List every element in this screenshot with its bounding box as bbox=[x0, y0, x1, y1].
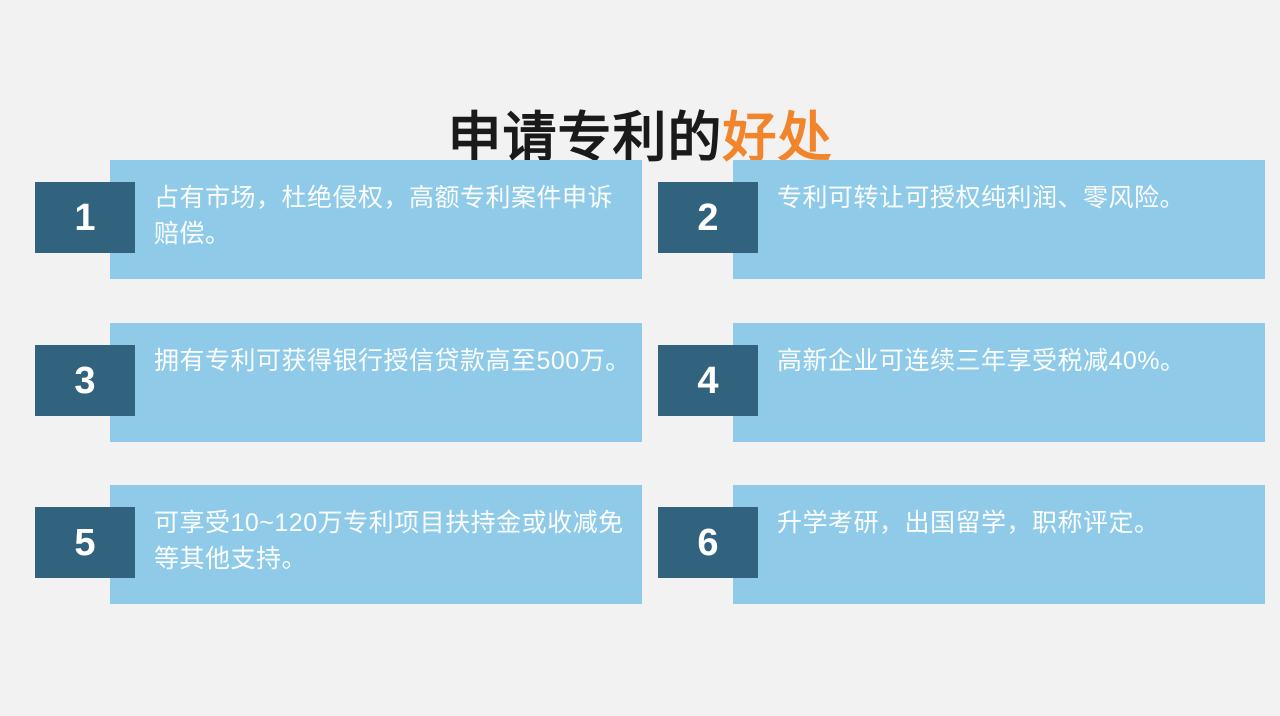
benefit-card-grid: 占有市场，杜绝侵权，高额专利案件申诉赔偿。 1 专利可转让可授权纯利润、零风险。… bbox=[0, 0, 1280, 716]
benefit-card-6[interactable]: 升学考研，出国留学，职称评定。 6 bbox=[658, 483, 1280, 643]
benefit-card-2-badge: 2 bbox=[658, 182, 758, 253]
benefit-card-1[interactable]: 占有市场，杜绝侵权，高额专利案件申诉赔偿。 1 bbox=[35, 158, 658, 318]
benefit-card-2-number: 2 bbox=[697, 199, 718, 237]
benefit-card-4-badge: 4 bbox=[658, 345, 758, 416]
benefit-card-4[interactable]: 高新企业可连续三年享受税减40%。 4 bbox=[658, 321, 1280, 481]
benefit-card-3-number: 3 bbox=[74, 362, 95, 400]
benefit-card-3-panel: 拥有专利可获得银行授信贷款高至500万。 bbox=[110, 323, 642, 442]
benefit-card-1-number: 1 bbox=[74, 199, 95, 237]
benefit-card-5-panel: 可享受10~120万专利项目扶持金或收减免等其他支持。 bbox=[110, 485, 642, 604]
benefit-card-5-number: 5 bbox=[74, 524, 95, 562]
benefit-card-3-text: 拥有专利可获得银行授信贷款高至500万。 bbox=[154, 343, 634, 379]
benefit-card-5[interactable]: 可享受10~120万专利项目扶持金或收减免等其他支持。 5 bbox=[35, 483, 658, 643]
benefit-card-1-text: 占有市场，杜绝侵权，高额专利案件申诉赔偿。 bbox=[154, 180, 634, 252]
benefit-card-6-panel: 升学考研，出国留学，职称评定。 bbox=[733, 485, 1265, 604]
benefit-card-6-text: 升学考研，出国留学，职称评定。 bbox=[777, 505, 1257, 541]
slide-canvas: 申请专利的好处 占有市场，杜绝侵权，高额专利案件申诉赔偿。 1 专利可转让可授权… bbox=[0, 0, 1280, 716]
benefit-card-3-badge: 3 bbox=[35, 345, 135, 416]
benefit-card-4-number: 4 bbox=[697, 362, 718, 400]
benefit-card-2[interactable]: 专利可转让可授权纯利润、零风险。 2 bbox=[658, 158, 1280, 318]
benefit-card-1-panel: 占有市场，杜绝侵权，高额专利案件申诉赔偿。 bbox=[110, 160, 642, 279]
benefit-card-6-badge: 6 bbox=[658, 507, 758, 578]
benefit-card-5-text: 可享受10~120万专利项目扶持金或收减免等其他支持。 bbox=[154, 505, 634, 577]
benefit-card-2-text: 专利可转让可授权纯利润、零风险。 bbox=[777, 180, 1257, 216]
benefit-card-2-panel: 专利可转让可授权纯利润、零风险。 bbox=[733, 160, 1265, 279]
benefit-card-4-panel: 高新企业可连续三年享受税减40%。 bbox=[733, 323, 1265, 442]
benefit-card-4-text: 高新企业可连续三年享受税减40%。 bbox=[777, 343, 1257, 379]
benefit-card-6-number: 6 bbox=[697, 524, 718, 562]
benefit-card-5-badge: 5 bbox=[35, 507, 135, 578]
benefit-card-1-badge: 1 bbox=[35, 182, 135, 253]
benefit-card-3[interactable]: 拥有专利可获得银行授信贷款高至500万。 3 bbox=[35, 321, 658, 481]
